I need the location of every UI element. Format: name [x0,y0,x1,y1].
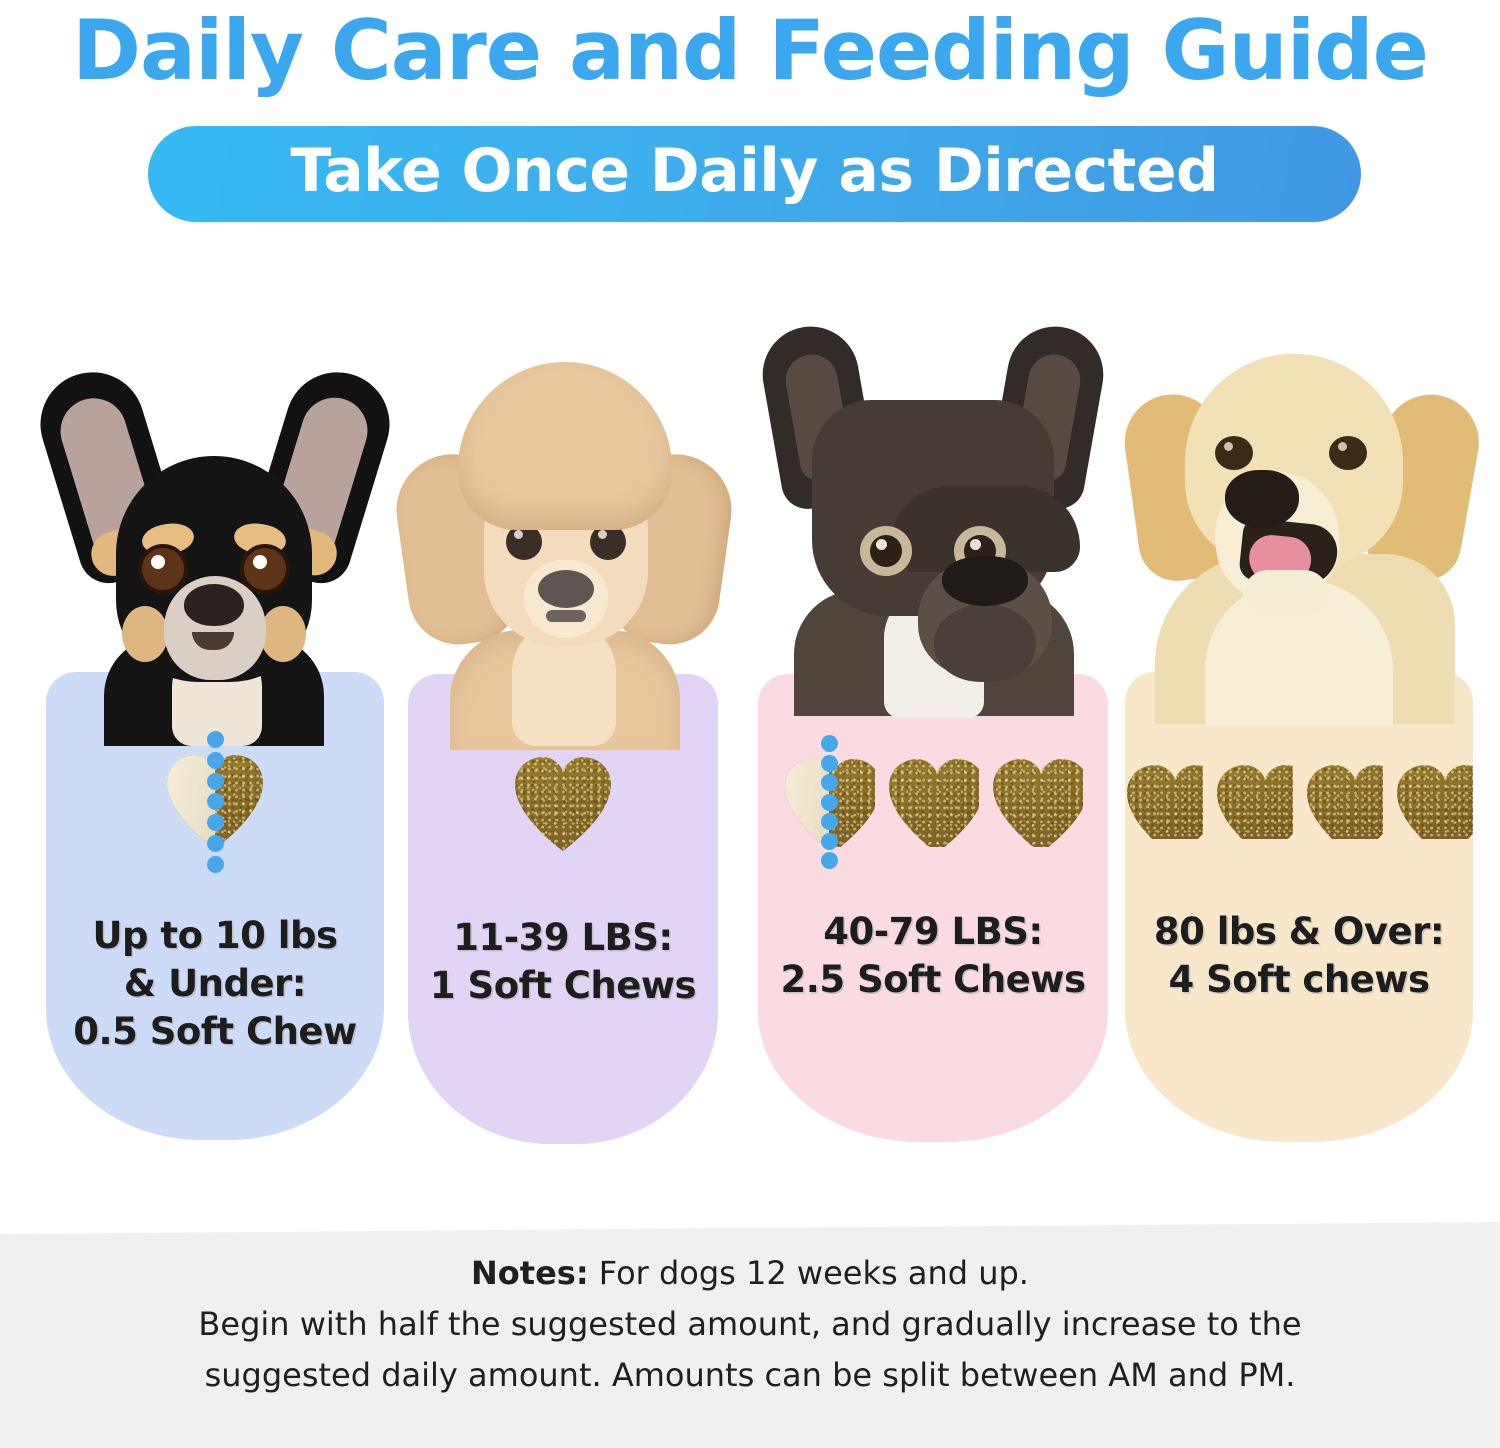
weight-range-line-1: 11-39 LBS: [408,914,718,962]
chew-dose-illustration-two-and-half [758,732,1108,872]
half-chew [165,753,265,851]
frenchie-head [812,400,1054,616]
dosage-label-card-2: 11-39 LBS: 1 Soft Chews [408,914,718,1010]
golden-nose [1225,470,1299,528]
dog-photo-french-bulldog [760,322,1106,702]
notes-line-2: Begin with half the suggested amount, an… [0,1299,1500,1350]
dosage-card-11-39-lbs[interactable]: 11-39 LBS: 1 Soft Chews [408,300,718,1180]
weight-range-line-1: 40-79 LBS: [758,908,1108,956]
dose-amount: 4 Soft chews [1125,956,1473,1004]
chihuahua-eye-left [138,544,188,594]
notes-line-1-rest: For dogs 12 weeks and up. [589,1254,1029,1292]
dosage-label-card-1: Up to 10 lbs & Under: 0.5 Soft Chew [46,912,384,1056]
weight-range-line-1: 80 lbs & Over: [1125,908,1473,956]
dosage-card-row: Up to 10 lbs & Under: 0.5 Soft Chew [0,300,1500,1180]
split-dotted-line [207,731,224,873]
notes-line-3: suggested daily amount. Amounts can be s… [0,1350,1500,1401]
weight-range-line-1: Up to 10 lbs [46,912,384,960]
chew-heart-icon [513,755,613,853]
golden-eye-left [1215,436,1253,470]
frenchie-nose [942,556,1028,606]
dog-photo-chihuahua [50,360,380,700]
chew-heart-icon [887,757,979,847]
chew-dose-illustration-half [46,732,384,872]
dosage-card-up-to-10-lbs[interactable]: Up to 10 lbs & Under: 0.5 Soft Chew [46,300,384,1180]
poodle-nose [538,570,594,608]
dose-amount: 2.5 Soft Chews [758,956,1108,1004]
page-title: Daily Care and Feeding Guide [0,2,1500,99]
notes-line-1: Notes: For dogs 12 weeks and up. [0,1248,1500,1299]
chew-heart-icon [1125,763,1203,839]
directions-banner: Take Once Daily as Directed [148,126,1361,222]
infographic-root: Daily Care and Feeding Guide Take Once D… [0,0,1500,1448]
golden-head [1185,354,1403,566]
chihuahua-eye-right [240,544,290,594]
directions-banner-label: Take Once Daily as Directed [291,136,1219,206]
notes-text: Notes: For dogs 12 weeks and up. Begin w… [0,1248,1500,1402]
dog-photo-poodle [408,362,720,702]
chihuahua-nose [184,584,244,626]
chew-heart-icon [1215,763,1293,839]
dose-amount: 0.5 Soft Chew [46,1008,384,1056]
golden-eye-right [1329,436,1367,470]
notes-label: Notes: [471,1254,589,1292]
dosage-label-card-4: 80 lbs & Over: 4 Soft chews [1125,908,1473,1004]
poodle-top-curls [458,362,672,530]
half-chew [783,757,875,847]
dosage-card-40-79-lbs[interactable]: 40-79 LBS: 2.5 Soft Chews [758,300,1108,1180]
chew-heart-icon [991,757,1083,847]
chihuahua-head [116,456,312,682]
chew-dose-illustration-four [1125,736,1473,866]
chew-dose-illustration-one [408,734,718,874]
dose-amount: 1 Soft Chews [408,962,718,1010]
chew-heart-icon [1305,763,1383,839]
split-dotted-line [821,735,838,869]
frenchie-eye-left [860,526,912,576]
dosage-label-card-3: 40-79 LBS: 2.5 Soft Chews [758,908,1108,1004]
dog-photo-golden-retriever [1121,330,1477,702]
chew-heart-icon [1395,763,1473,839]
dosage-card-80-lbs-and-over[interactable]: 80 lbs & Over: 4 Soft chews [1125,300,1473,1180]
weight-range-line-2: & Under: [46,960,384,1008]
